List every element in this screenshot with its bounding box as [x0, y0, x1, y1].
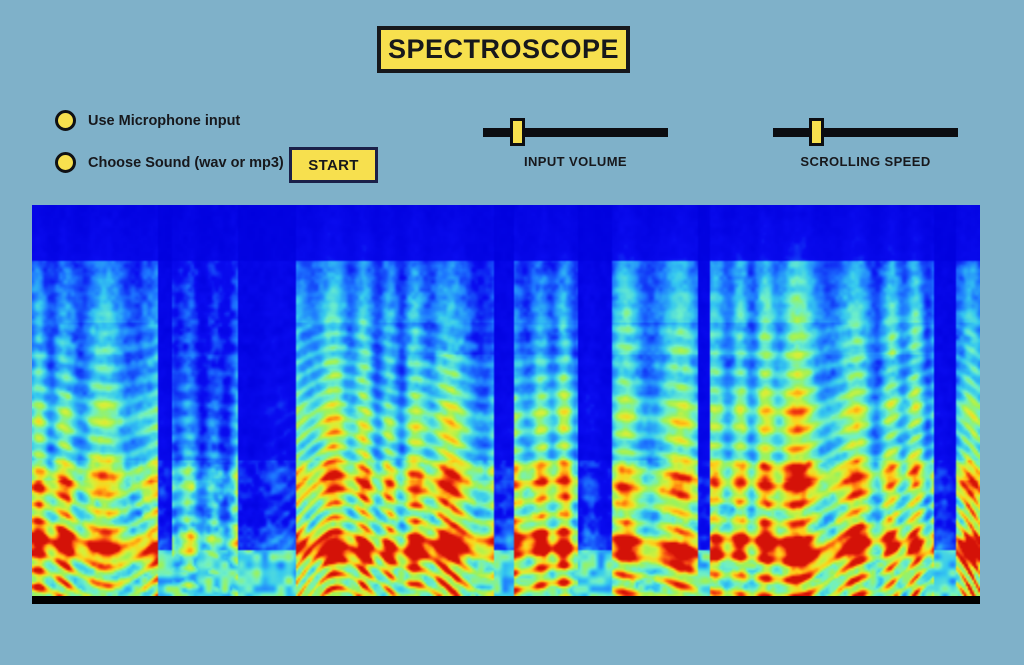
- scrolling-speed-slider[interactable]: SCROLLING SPEED: [773, 118, 958, 169]
- start-button[interactable]: START: [289, 147, 378, 183]
- radio-option-choose-sound[interactable]: Choose Sound (wav or mp3): [55, 152, 284, 173]
- radio-button-icon[interactable]: [55, 110, 76, 131]
- start-button-label: START: [308, 157, 358, 174]
- spectroscope-app: SPECTROSCOPE Use Microphone input Choose…: [0, 0, 1024, 665]
- slider-track-wrap[interactable]: [773, 118, 958, 146]
- slider-track[interactable]: [773, 128, 958, 137]
- spectrogram-baseline: [32, 596, 980, 604]
- input-volume-slider[interactable]: INPUT VOLUME: [483, 118, 668, 169]
- page-title-text: SPECTROSCOPE: [388, 34, 619, 65]
- slider-thumb[interactable]: [809, 118, 824, 146]
- slider-thumb[interactable]: [510, 118, 525, 146]
- radio-option-label: Choose Sound (wav or mp3): [88, 155, 284, 171]
- page-title: SPECTROSCOPE: [377, 26, 630, 73]
- scrolling-speed-label: SCROLLING SPEED: [773, 154, 958, 169]
- radio-option-label: Use Microphone input: [88, 113, 240, 129]
- spectrogram-display: [32, 205, 980, 604]
- input-volume-label: INPUT VOLUME: [483, 154, 668, 169]
- radio-button-icon[interactable]: [55, 152, 76, 173]
- spectrogram-canvas: [32, 205, 980, 596]
- slider-track-wrap[interactable]: [483, 118, 668, 146]
- radio-option-use-microphone[interactable]: Use Microphone input: [55, 110, 240, 131]
